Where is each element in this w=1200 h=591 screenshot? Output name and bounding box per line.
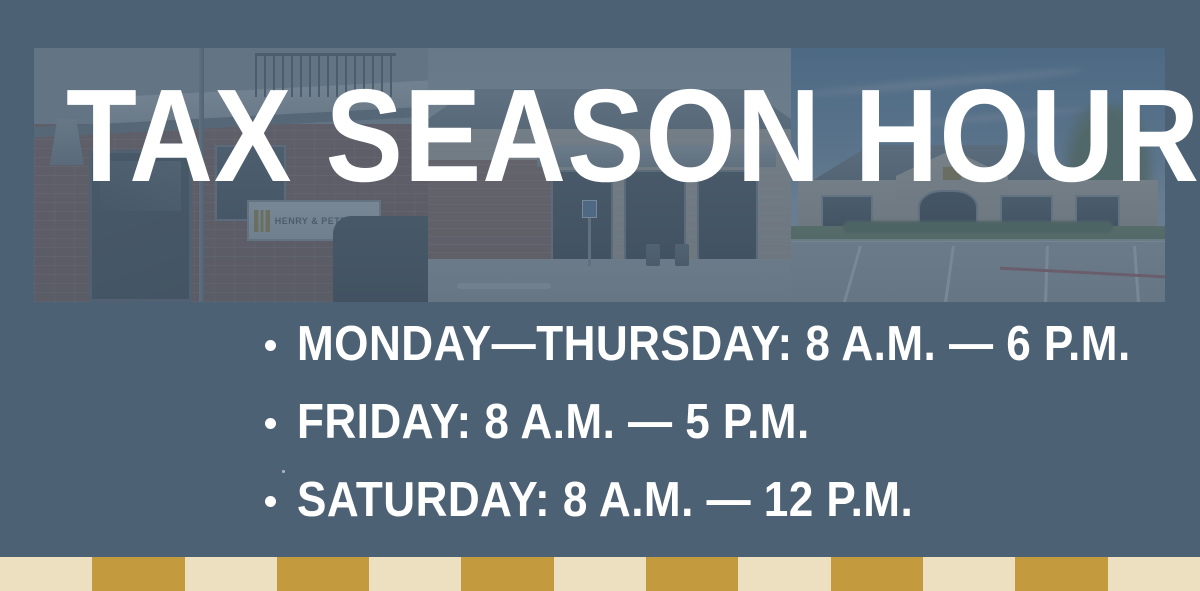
pavement	[428, 259, 791, 302]
list-item: MONDAY—THURSDAY: 8 A.M. — 6 P.M.	[252, 318, 1152, 370]
image-artifact-speck	[282, 470, 285, 473]
stripe-block-cream	[185, 557, 277, 591]
page-title: TAX SEASON HOURS	[66, 70, 1034, 202]
hours-item-label: MONDAY—THURSDAY: 8 A.M. — 6 P.M.	[297, 318, 1131, 370]
stripe-block-cream	[0, 557, 92, 591]
hours-item-label: FRIDAY: 8 A.M. — 5 P.M.	[297, 396, 810, 448]
parking-sign-icon	[588, 200, 591, 266]
stripe-block-cream	[923, 557, 1015, 591]
stripe-block-gold	[1015, 557, 1107, 591]
poster-canvas: HENRY & PETERS	[0, 0, 1200, 591]
hours-item-label: SATURDAY: 8 A.M. — 12 P.M.	[297, 474, 913, 526]
stripe-block-gold	[277, 557, 369, 591]
list-item: SATURDAY: 8 A.M. — 12 P.M.	[252, 474, 1152, 526]
trash-bin	[675, 244, 689, 266]
henry-peters-logo-icon	[254, 210, 270, 232]
parked-car	[333, 216, 428, 302]
stripe-block-gold	[92, 557, 184, 591]
stripe-block-gold	[461, 557, 553, 591]
stripe-block-cream	[369, 557, 461, 591]
stripe-block-cream	[738, 557, 830, 591]
hours-list: MONDAY—THURSDAY: 8 A.M. — 6 P.M. FRIDAY:…	[252, 318, 1152, 552]
stripe-block-gold	[831, 557, 923, 591]
trash-bin	[646, 244, 660, 266]
concrete-curb	[457, 283, 551, 289]
stripe-block-cream	[554, 557, 646, 591]
stripe-block-cream	[1108, 557, 1200, 591]
hedge-row	[843, 221, 1112, 234]
stripe-block-gold	[646, 557, 738, 591]
footer-checker-stripe	[0, 557, 1200, 591]
list-item: FRIDAY: 8 A.M. — 5 P.M.	[252, 396, 1152, 448]
sidewalk-edge	[791, 239, 1165, 242]
